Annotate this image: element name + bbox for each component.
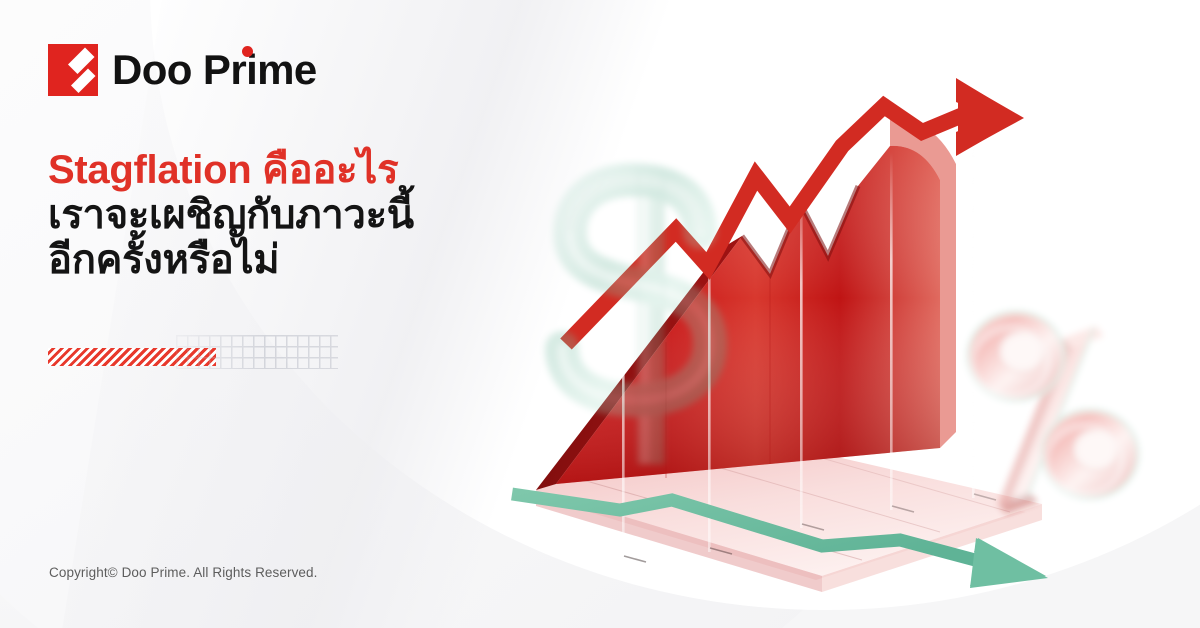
doo-prime-square-pen-logo-icon	[48, 44, 98, 96]
logo-i-dot-icon	[242, 46, 253, 57]
percent-sign-3d-icon	[968, 312, 1138, 514]
decorative-accent	[48, 335, 338, 375]
3d-stagflation-chart	[470, 60, 1200, 628]
copyright-text: Copyright© Doo Prime. All Rights Reserve…	[49, 565, 318, 580]
banner-canvas: Doo Prime Stagflation คืออะไร เราจะเผชิญ…	[0, 0, 1200, 628]
brand-logo[interactable]: Doo Prime	[48, 44, 317, 96]
dot-grid-pattern	[176, 335, 338, 369]
brand-wordmark: Doo Prime	[112, 49, 317, 91]
brand-name-text: Doo Prime	[112, 46, 317, 93]
chart-illustration-svg	[470, 60, 1200, 628]
